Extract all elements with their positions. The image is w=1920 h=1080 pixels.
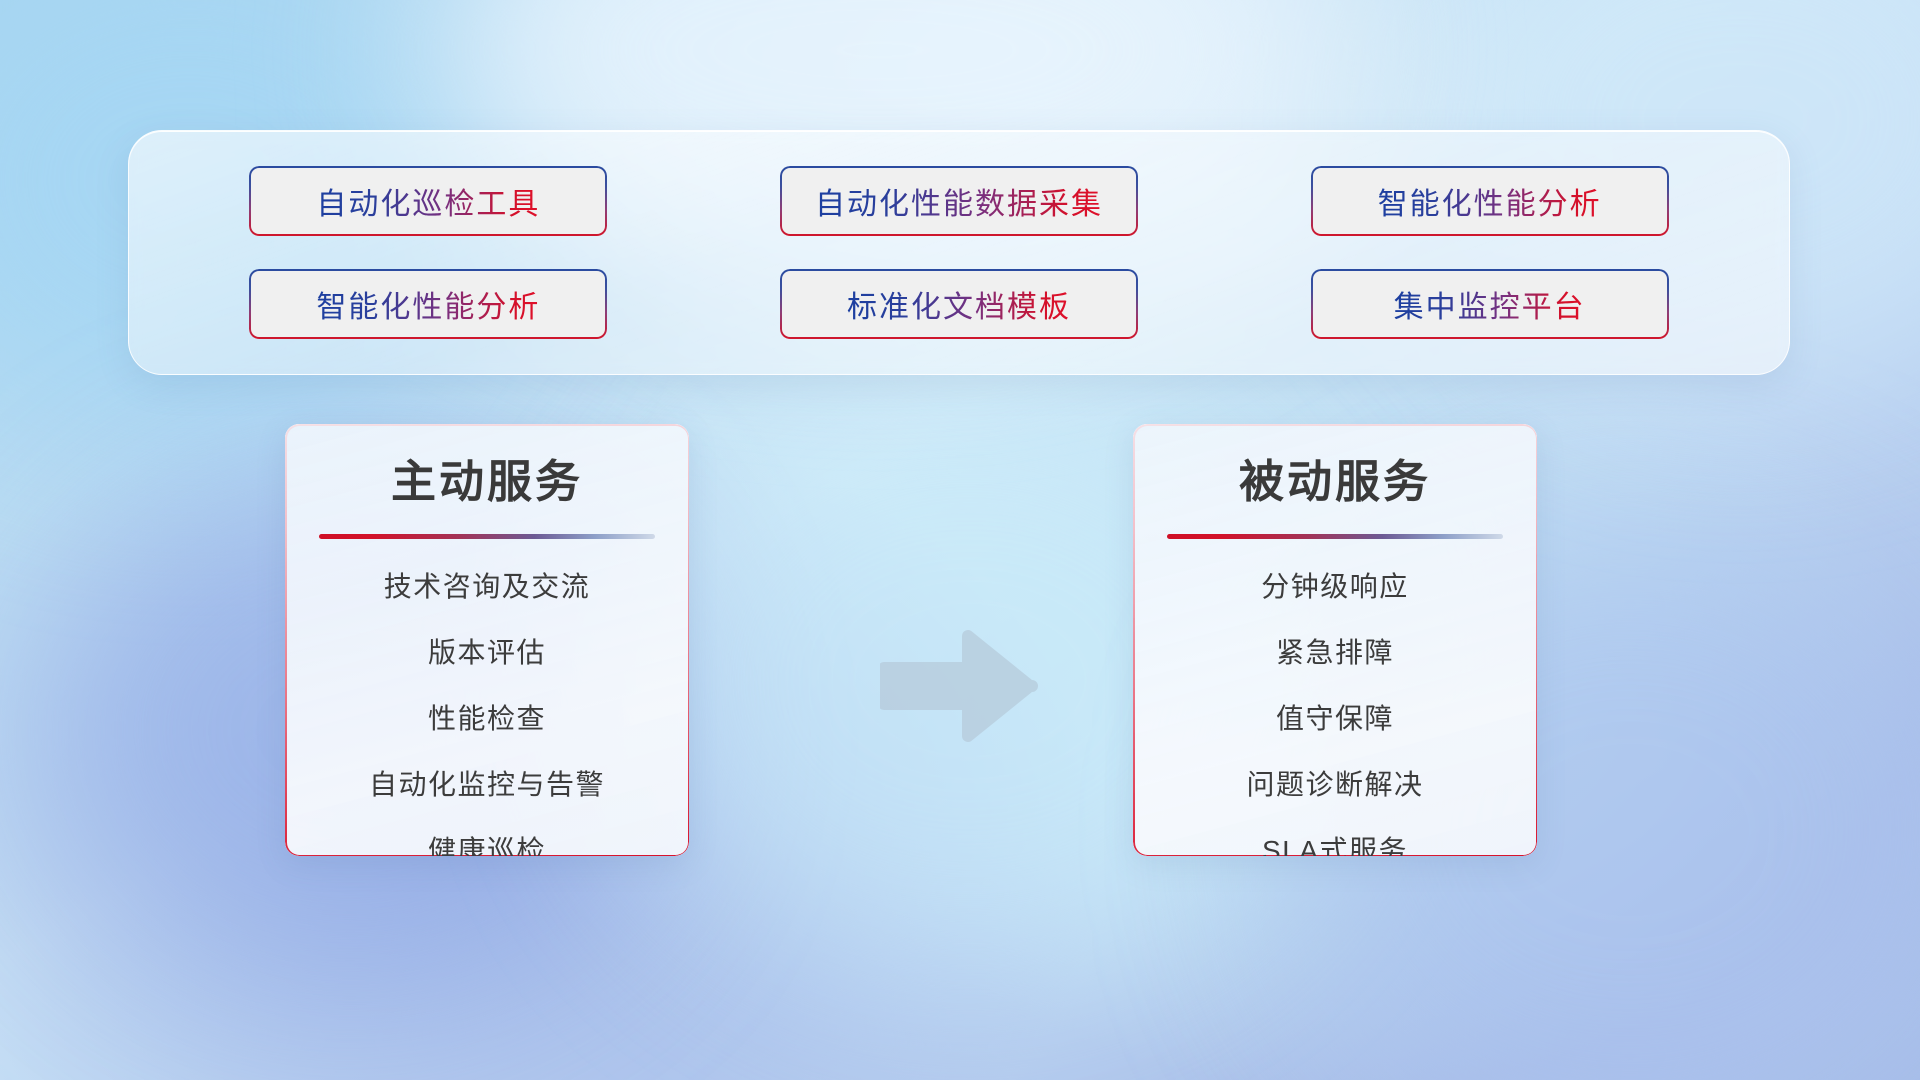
service-list-item: SLA式服务 <box>1153 837 1517 856</box>
diagram-canvas: 自动化巡检工具 自动化性能数据采集 智能化性能分析 智能化性能分析 标准化文档模… <box>0 0 1920 1080</box>
service-list-item: 值守保障 <box>1153 705 1517 733</box>
service-list-passive: 分钟级响应 紧急排障 值守保障 问题诊断解决 SLA式服务 <box>1153 573 1517 856</box>
service-list-item: 版本评估 <box>305 639 669 667</box>
service-list-item: 问题诊断解决 <box>1153 771 1517 799</box>
capability-pill-5[interactable]: 标准化文档模板 <box>780 269 1138 339</box>
card-divider <box>1167 534 1503 539</box>
service-list-item: 分钟级响应 <box>1153 573 1517 601</box>
service-list-item: 性能检查 <box>305 705 669 733</box>
capability-pill-label: 标准化文档模板 <box>847 282 1071 326</box>
service-card-passive[interactable]: 被动服务 分钟级响应 紧急排障 值守保障 问题诊断解决 SLA式服务 <box>1133 424 1537 856</box>
capability-pill-label: 自动化巡检工具 <box>316 179 540 223</box>
capability-pill-3[interactable]: 智能化性能分析 <box>1311 166 1669 236</box>
card-title-active: 主动服务 <box>305 456 669 508</box>
capability-pill-4[interactable]: 智能化性能分析 <box>249 269 607 339</box>
capability-panel: 自动化巡检工具 自动化性能数据采集 智能化性能分析 智能化性能分析 标准化文档模… <box>128 130 1790 375</box>
service-card-active[interactable]: 主动服务 技术咨询及交流 版本评估 性能检查 自动化监控与告警 健康巡检 <box>285 424 689 856</box>
capability-pill-1[interactable]: 自动化巡检工具 <box>249 166 607 236</box>
capability-pill-label: 自动化性能数据采集 <box>815 179 1103 223</box>
capability-pill-label: 集中监控平台 <box>1394 282 1586 326</box>
service-list-item: 自动化监控与告警 <box>305 771 669 799</box>
capability-pill-label: 智能化性能分析 <box>1378 179 1602 223</box>
capability-pill-2[interactable]: 自动化性能数据采集 <box>780 166 1138 236</box>
service-list-item: 健康巡检 <box>305 837 669 856</box>
card-title-passive: 被动服务 <box>1153 456 1517 508</box>
card-divider <box>319 534 655 539</box>
service-list-item: 紧急排障 <box>1153 639 1517 667</box>
capability-pill-6[interactable]: 集中监控平台 <box>1311 269 1669 339</box>
arrow-right-icon <box>880 630 1038 742</box>
service-list-item: 技术咨询及交流 <box>305 573 669 601</box>
capability-pill-label: 智能化性能分析 <box>316 282 540 326</box>
service-list-active: 技术咨询及交流 版本评估 性能检查 自动化监控与告警 健康巡检 <box>305 573 669 856</box>
